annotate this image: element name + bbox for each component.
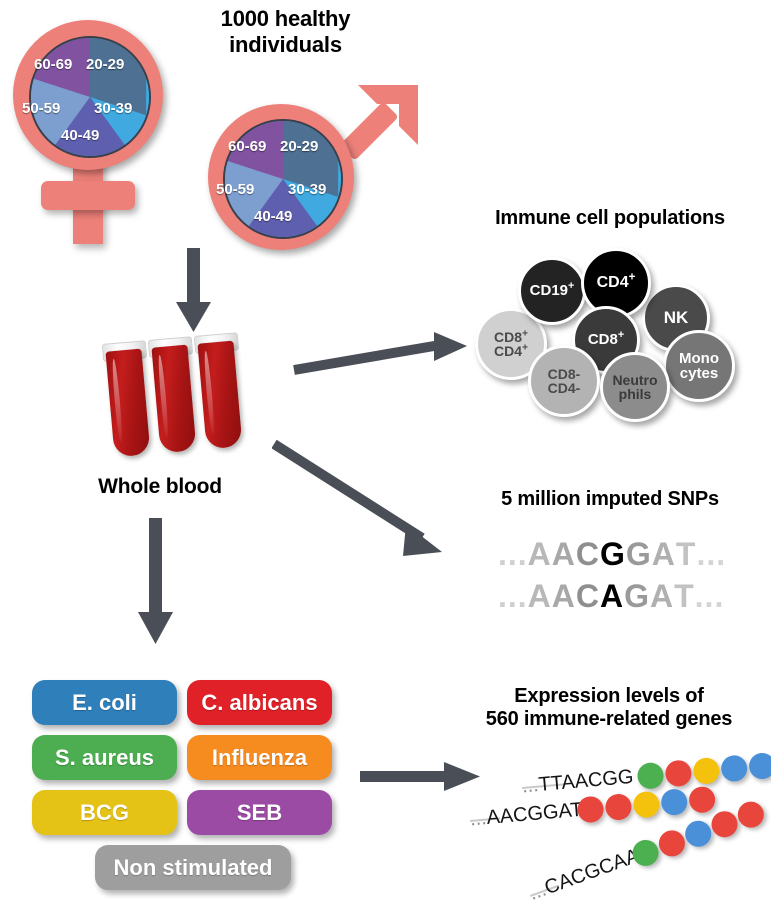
immune-cell-label: CD8+CD4+ xyxy=(494,330,528,359)
snp-ellipsis-left: ... xyxy=(498,578,528,615)
immune-cell-label: Neutrophils xyxy=(612,373,657,402)
snp-allele-bottom: A xyxy=(600,578,624,615)
snp-allele-top: G xyxy=(600,536,626,573)
blood-tube xyxy=(105,349,150,458)
arrow-blood-to-immune xyxy=(292,330,472,380)
snp-base: T xyxy=(674,578,695,615)
expression-bead xyxy=(655,827,688,860)
immune-cell-label: CD8-CD4- xyxy=(548,367,581,396)
strand-bases: CACGCAA xyxy=(542,845,642,900)
stimulus-seb[interactable]: SEB xyxy=(187,790,332,835)
strand-bases: AACGGAT xyxy=(486,799,584,829)
pie-label-40-49: 40-49 xyxy=(254,208,292,225)
expression-bead xyxy=(748,752,771,780)
expression-bead xyxy=(720,754,748,782)
snp-base: A xyxy=(528,536,552,573)
pie-label-30-39: 30-39 xyxy=(94,100,132,117)
stimulus-c-albicans[interactable]: C. albicans xyxy=(187,680,332,725)
expression-bead xyxy=(688,786,716,814)
cohort-title-line2: individuals xyxy=(178,32,393,58)
stimulus-label: BCG xyxy=(80,800,129,826)
snp-sequence-bottom: ...AACAGAT... xyxy=(498,578,724,615)
expression-bead xyxy=(664,759,692,787)
stimulus-label: Non stimulated xyxy=(114,855,273,881)
snp-base: T xyxy=(676,536,697,573)
snp-base: A xyxy=(652,536,676,573)
expression-bead xyxy=(708,808,741,841)
immune-cell-label: NK xyxy=(664,309,689,326)
snp-ellipsis-right: ... xyxy=(695,578,725,615)
arrow-cohort-to-blood xyxy=(172,248,216,338)
strand-ellipsis: ... xyxy=(469,807,488,830)
strand-ellipsis: ... xyxy=(521,774,540,797)
snp-base: C xyxy=(576,536,600,573)
arrow-stimuli-to-expression xyxy=(360,758,485,798)
snp-ellipsis-right: ... xyxy=(696,536,726,573)
female-symbol: 20-29 30-39 40-49 50-59 60-69 xyxy=(8,14,188,244)
figure-canvas: 1000 healthy individuals 20-29 30-39 40-… xyxy=(0,0,771,922)
expression-bead xyxy=(682,817,715,850)
stimulus-e-coli[interactable]: E. coli xyxy=(32,680,177,725)
immune-cell-label: CD19+ xyxy=(530,283,575,298)
pie-label-50-59: 50-59 xyxy=(22,100,60,117)
expression-bead xyxy=(632,790,660,818)
snp-base: A xyxy=(650,578,674,615)
immune-cell-neutrophils: Neutrophils xyxy=(600,352,670,422)
snps-title: 5 million imputed SNPs xyxy=(450,488,770,511)
expression-bead xyxy=(636,762,664,790)
blood-tubes xyxy=(108,338,288,458)
female-crossbar xyxy=(41,181,135,210)
expression-bead xyxy=(734,798,767,831)
snp-base: A xyxy=(552,578,576,615)
male-symbol: 20-29 30-39 40-49 50-59 60-69 xyxy=(206,84,421,254)
snp-base: C xyxy=(576,578,600,615)
immune-cell-label: CD8+ xyxy=(588,332,624,347)
immune-cell-cluster: CD8+CD4+ CD19+ NK CD4+ CD8+ CD8-CD4- Mon… xyxy=(450,240,770,430)
snp-base: A xyxy=(528,578,552,615)
stimulus-non-stimulated[interactable]: Non stimulated xyxy=(95,845,291,890)
immune-cell-monocytes: Monocytes xyxy=(663,330,735,402)
pie-label-30-39: 30-39 xyxy=(288,181,326,198)
stimulus-influenza[interactable]: Influenza xyxy=(187,735,332,780)
immune-cell-cd8-cd4-negative: CD8-CD4- xyxy=(528,345,600,417)
blood-tube xyxy=(151,345,196,454)
expression-title: Expression levels of 560 immune-related … xyxy=(448,685,770,731)
expression-title-line1: Expression levels of xyxy=(448,685,770,708)
strand-sequence: ...AACGGAT xyxy=(469,799,584,832)
blood-tube xyxy=(197,341,242,450)
stimulus-label: E. coli xyxy=(72,690,137,716)
strand-sequence: ...CACGCAA xyxy=(526,845,642,906)
expression-bead xyxy=(692,757,720,785)
snp-base: G xyxy=(624,578,650,615)
stimulus-label: S. aureus xyxy=(55,745,154,771)
immune-cell-label: Monocytes xyxy=(679,351,719,382)
stimulus-bcg[interactable]: BCG xyxy=(32,790,177,835)
stimulus-label: Influenza xyxy=(212,745,307,771)
immune-title: Immune cell populations xyxy=(450,207,770,230)
expression-bead xyxy=(604,793,632,821)
expression-bead xyxy=(660,788,688,816)
snp-base: G xyxy=(626,536,652,573)
stimulus-s-aureus[interactable]: S. aureus xyxy=(32,735,177,780)
snp-ellipsis-left: ... xyxy=(498,536,528,573)
snp-sequence-top: ...AACGGAT... xyxy=(498,536,726,573)
snp-base: A xyxy=(552,536,576,573)
stimulus-label: C. albicans xyxy=(201,690,317,716)
pie-label-60-69: 60-69 xyxy=(34,56,72,73)
pie-label-40-49: 40-49 xyxy=(61,127,99,144)
expression-title-line2: 560 immune-related genes xyxy=(448,708,770,731)
arrow-blood-to-snps xyxy=(272,440,457,570)
pie-label-60-69: 60-69 xyxy=(228,138,266,155)
cohort-title-line1: 1000 healthy xyxy=(178,6,393,32)
stimulus-label: SEB xyxy=(237,800,282,826)
arrow-blood-to-stimuli xyxy=(134,518,178,648)
pie-label-50-59: 50-59 xyxy=(216,181,254,198)
whole-blood-label: Whole blood xyxy=(60,475,260,499)
cohort-title: 1000 healthy individuals xyxy=(178,6,393,57)
immune-cell-cd19: CD19+ xyxy=(518,257,586,325)
pie-label-20-29: 20-29 xyxy=(86,56,124,73)
pie-label-20-29: 20-29 xyxy=(280,138,318,155)
immune-cell-label: CD4+ xyxy=(597,275,636,291)
